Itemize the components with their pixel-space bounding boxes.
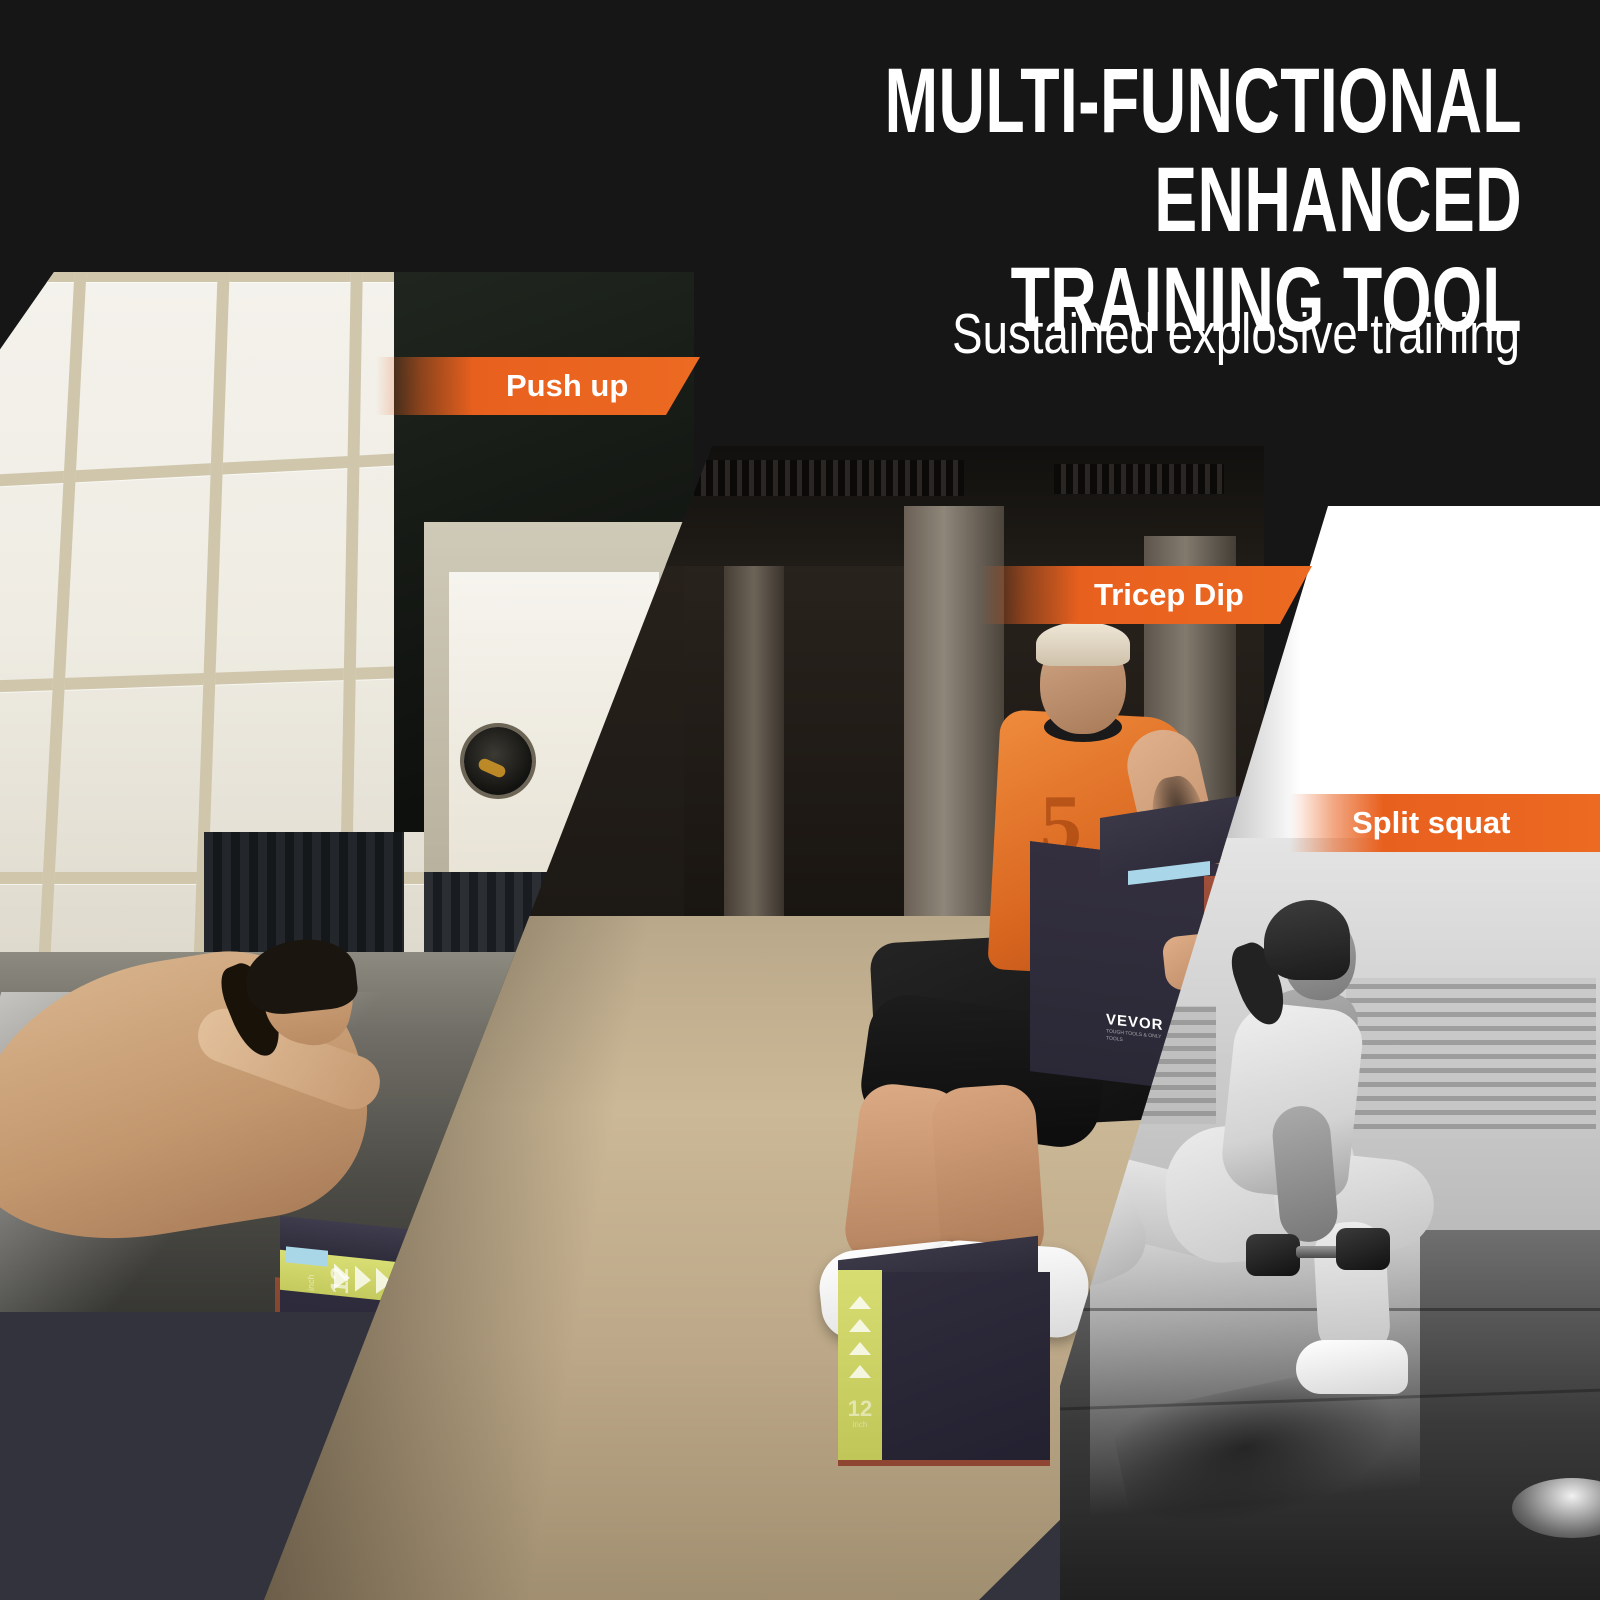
title-line-1: MULTI-FUNCTIONAL ENHANCED <box>884 50 1522 251</box>
product-banner: 12 inch 5 <box>0 0 1600 1600</box>
box-front-face <box>882 1272 1050 1464</box>
box-edge-red <box>838 1460 1050 1466</box>
athlete-hair <box>1264 900 1350 980</box>
ceiling-grill <box>694 460 964 496</box>
badge-label: Split squat <box>1352 805 1510 841</box>
chevron-icon <box>849 1319 871 1332</box>
badge-split-squat: Split squat <box>1290 794 1600 852</box>
page-subtitle: Sustained explosive training <box>720 303 1520 366</box>
box-size-number: 12 <box>326 1267 355 1296</box>
ceiling-grill <box>1054 464 1224 494</box>
chevron-icon <box>849 1342 871 1355</box>
chevron-column <box>838 1270 882 1378</box>
athlete-shoe <box>1296 1340 1408 1394</box>
athlete-hair <box>1036 622 1130 666</box>
box-size-number: 12 <box>838 1396 882 1422</box>
badge-label: Push up <box>506 368 628 404</box>
concrete-pillar <box>724 566 784 946</box>
weight-rack <box>1346 978 1596 1138</box>
dumbbell <box>1246 1234 1300 1276</box>
box-size-unit: inch <box>306 1274 316 1292</box>
title-line-2: TRAINING TOOL <box>654 251 1522 350</box>
chevron-icon <box>355 1266 371 1294</box>
chevron-icon <box>849 1365 871 1378</box>
badge-tricep-dip: Tricep Dip <box>980 566 1312 624</box>
wall-fan <box>464 727 532 795</box>
badge-label: Tricep Dip <box>1094 577 1244 613</box>
plyo-box-12-inch-secondary: 12 inch <box>828 1248 1078 1498</box>
box-edge-green <box>838 1270 882 1460</box>
badge-push-up: Push up <box>376 357 700 415</box>
box-size-unit: inch <box>838 1420 882 1429</box>
chevron-icon <box>849 1296 871 1309</box>
dumbbell <box>1336 1228 1390 1270</box>
page-title: MULTI-FUNCTIONAL ENHANCED TRAINING TOOL <box>654 52 1522 350</box>
